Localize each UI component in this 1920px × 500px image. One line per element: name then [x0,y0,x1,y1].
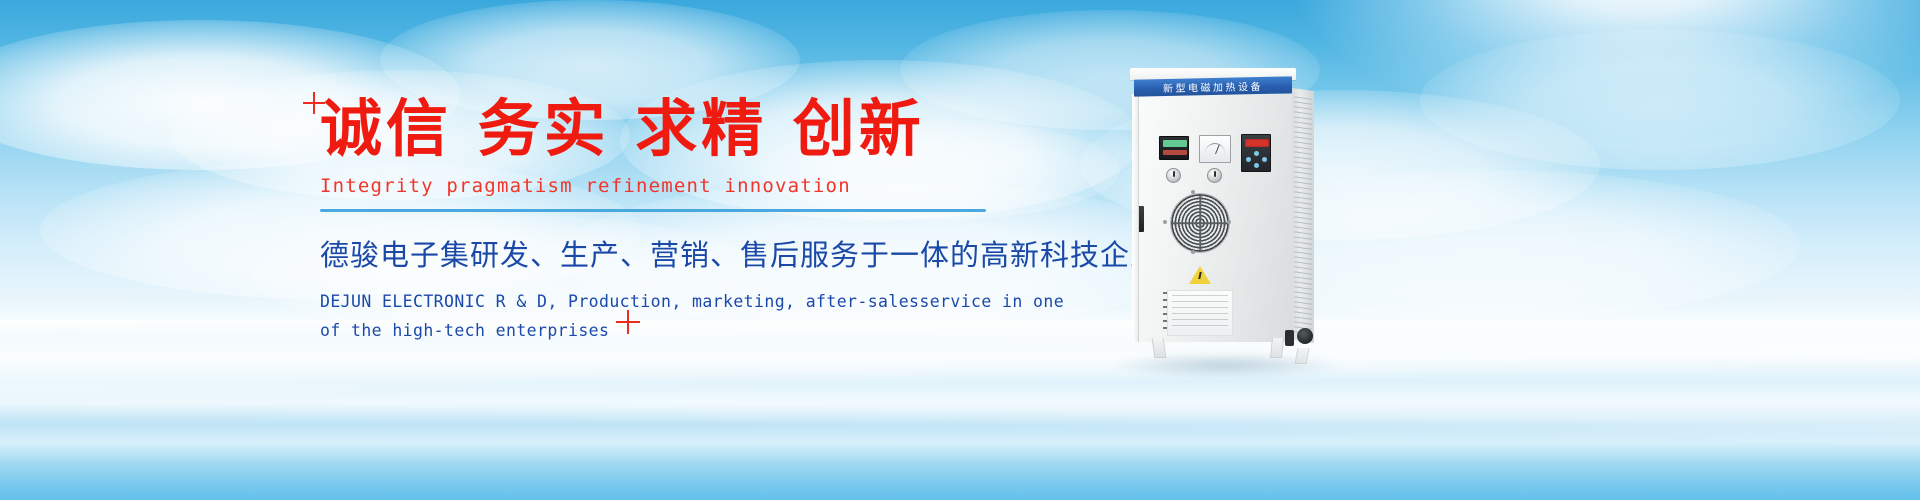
warning-triangle-icon [1189,266,1211,284]
control-knob-left [1166,168,1181,183]
machine-front-panel [1132,94,1292,342]
fan-grille-icon [1171,194,1229,252]
banner-tagline: Integrity pragmatism refinement innovati… [320,175,1040,197]
machine-leg [1270,338,1284,358]
control-panel [1157,134,1283,182]
led-keypad [1241,134,1271,172]
sea-background [0,320,1920,500]
control-knob-right [1207,168,1222,183]
digital-display [1159,136,1189,160]
keypad-buttons [1246,151,1268,169]
banner-copy: 诚信 务实 求精 创新 Integrity pragmatism refinem… [320,96,1040,346]
banner-description: DEJUN ELECTRONIC R & D, Production, mark… [320,288,1040,346]
analog-gauge [1199,135,1231,163]
description-line-2: of the high-tech enterprises [320,317,1040,346]
connector-port [1285,330,1294,346]
fan-screw [1191,250,1195,254]
fan-screw [1191,190,1195,194]
fan-screw [1227,220,1231,224]
keypad-button-down [1254,163,1259,168]
keypad-button-right [1262,157,1267,162]
fan-screw [1163,220,1167,224]
spec-sticker [1167,290,1233,336]
machine-leg [1152,338,1167,358]
description-line-1: DEJUN ELECTRONIC R & D, Production, mark… [320,288,1040,317]
round-connector-port [1297,328,1313,344]
keypad-button-up [1254,151,1259,156]
promo-banner: 诚信 务实 求精 创新 Integrity pragmatism refinem… [0,0,1920,500]
machine-left-edge [1132,94,1139,342]
banner-subhead: 德骏电子集研发、生产、营销、售后服务于一体的高新科技企业 [320,232,1040,274]
keypad-button-left [1246,157,1251,162]
led-readout [1245,139,1269,147]
machine-side-vent-panel [1292,88,1314,343]
machine-name-plate-text: 新型电磁加热设备 [1163,78,1263,95]
divider-rule [320,209,986,212]
product-machine: 新型电磁加热设备 [1122,68,1322,360]
machine-name-plate: 新型电磁加热设备 [1134,76,1292,96]
sticker-dot-column [1163,292,1167,334]
banner-headline: 诚信 务实 求精 创新 [320,96,1040,161]
